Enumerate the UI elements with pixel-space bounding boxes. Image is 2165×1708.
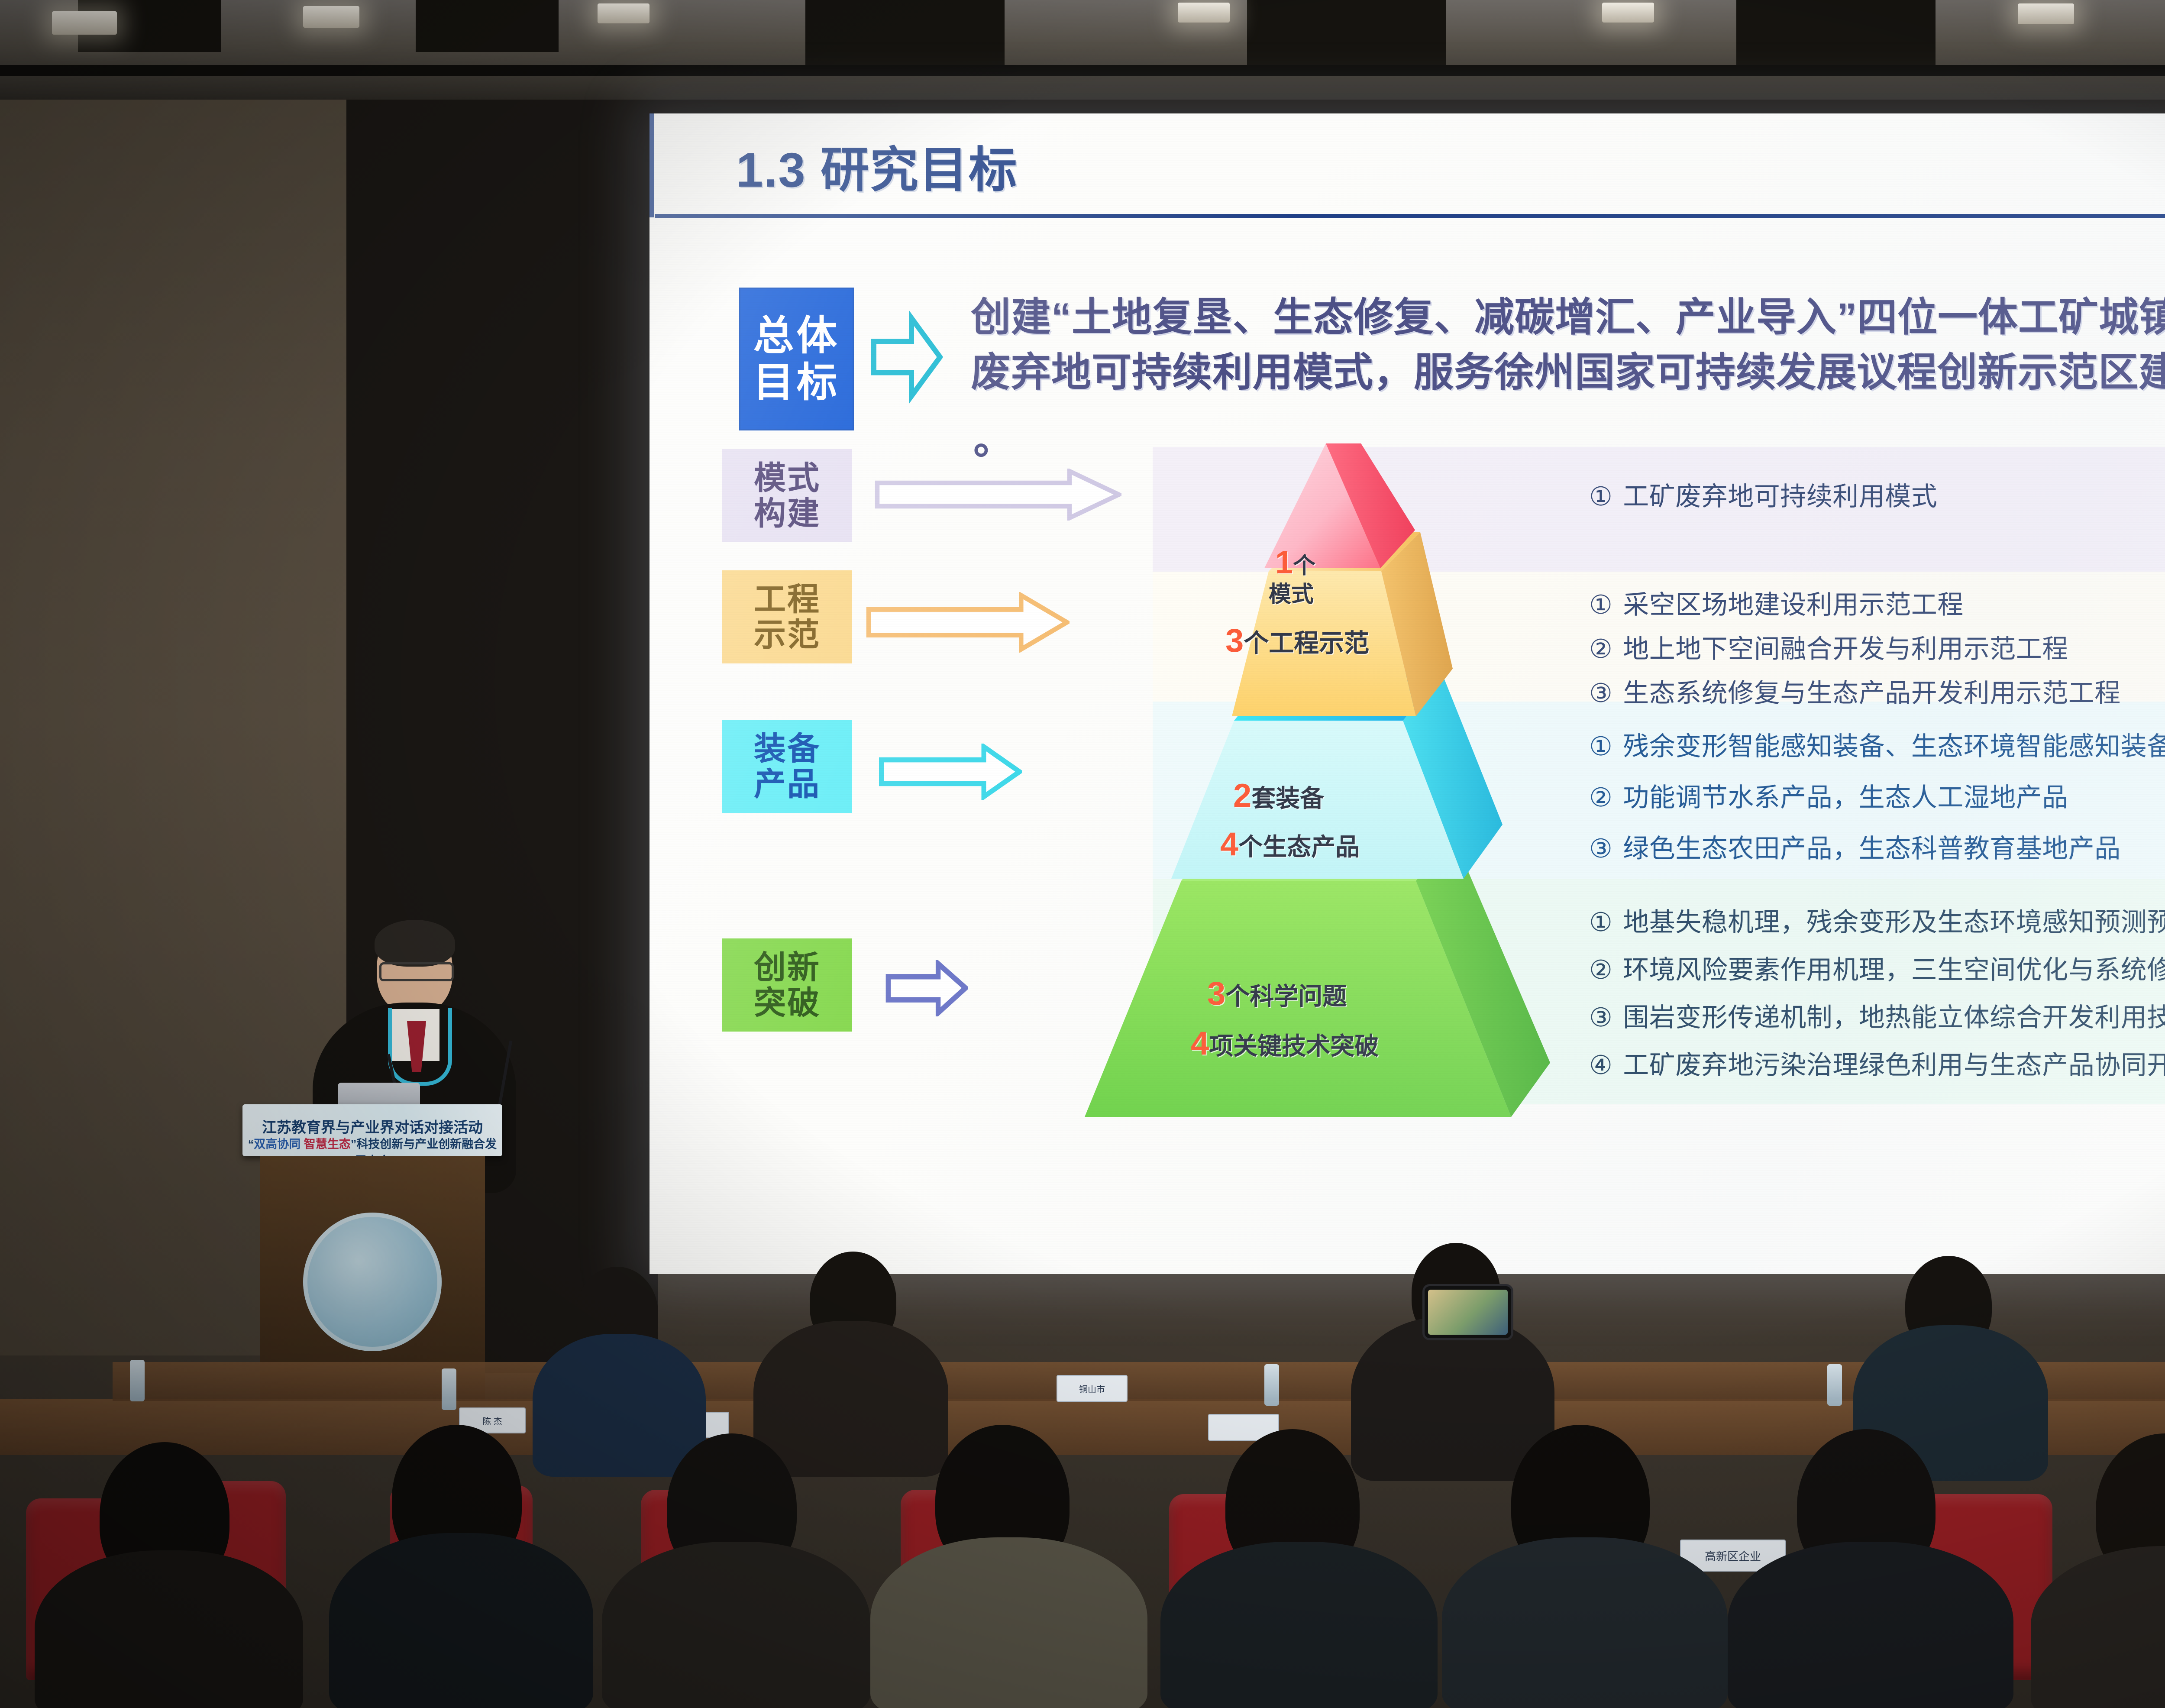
phone-screen xyxy=(1428,1290,1508,1335)
overall-goal-line1: 创建“土地复垦、生态修复、减碳增汇、产业导入”四位一体工矿城镇 xyxy=(971,290,2165,345)
tier-equipment-word2: 个生态产品 xyxy=(1238,833,1360,860)
tier-innovation-word: 个科学问题 xyxy=(1225,983,1347,1010)
phone-recording[interactable] xyxy=(1425,1286,1511,1338)
list-item: ③ 绿色生态农田产品，生态科普教育基地产品 xyxy=(1589,836,2165,862)
category-chip-model-construction[interactable]: 模式 构建 xyxy=(722,449,852,542)
speaker-glasses xyxy=(379,962,454,981)
podium-banner-panel: 江苏教育界与产业界对话对接活动 “双高协同 智慧生态”科技创新与产业创新融合发展… xyxy=(242,1104,502,1156)
speaker-lanyard xyxy=(388,1008,452,1086)
water-bottle xyxy=(1827,1364,1842,1406)
overall-goal-text: 创建“土地复垦、生态修复、减碳增汇、产业导入”四位一体工矿城镇 废弃地可持续利用… xyxy=(971,290,2165,400)
bullet-text: 绿色生态农田产品，生态科普教育基地产品 xyxy=(1623,836,2121,862)
ceiling-spotlight-3 xyxy=(598,3,649,23)
bullet-marker: ③ xyxy=(1589,836,1612,862)
tier-label-equipment-1: 2套装备 xyxy=(1233,780,1324,812)
ceiling-panel-3 xyxy=(805,0,1005,65)
speaker-hair xyxy=(375,920,455,967)
name-card: 铜山市 xyxy=(1057,1375,1128,1402)
title-underline-rule xyxy=(655,214,2165,218)
row-arrow-right-icon-engineering xyxy=(866,592,1070,653)
tier-equipment-word: 套装备 xyxy=(1251,785,1324,812)
banner-quote-close: ” xyxy=(351,1138,357,1151)
banner-tail: 科技创新与产业创新融合发展大会 xyxy=(355,1138,497,1156)
bullet-text: 残余变形智能感知装备、生态环境智能感知装备 xyxy=(1623,734,2165,760)
tier-label-innovation-1: 3个科学问题 xyxy=(1207,977,1347,1010)
bullet-text: 工矿废弃地可持续利用模式 xyxy=(1623,484,1937,510)
ceiling-panel-5 xyxy=(1736,0,1936,65)
tier-innovation-word2: 项关键技术突破 xyxy=(1209,1032,1379,1060)
tier-label-engineering: 3个工程示范 xyxy=(1225,624,1369,657)
bullet-list-engineering: ① 采空区场地建设利用示范工程 ② 地上地下空间融合开发与利用示范工程 ③ 生态… xyxy=(1589,592,2121,725)
bullet-text: 地基失稳机理，残余变形及生态环境感知预测预警技术 xyxy=(1623,909,2165,935)
bullet-marker: ① xyxy=(1589,484,1612,510)
banner-part1: 双高协同 xyxy=(254,1138,301,1151)
bullet-marker: ④ xyxy=(1589,1052,1612,1078)
tier-engineering-word: 个工程示范 xyxy=(1244,629,1369,657)
list-item: ① 地基失稳机理，残余变形及生态环境感知预测预警技术 xyxy=(1589,909,2165,935)
chip-innovation-line1: 创新 xyxy=(754,951,821,983)
projection-screen: 1.3 研究目标 总体 目标 创建“土地复垦、生态修复、减碳增汇、产业导入”四位… xyxy=(649,113,2165,1274)
overall-goal-line2: 废弃地可持续利用模式，服务徐州国家可持续发展议程创新示范区建设 xyxy=(971,345,2165,400)
slide-title: 1.3 研究目标 xyxy=(736,131,1018,201)
audience-body-foreground xyxy=(1728,1542,2013,1708)
ceiling-truss xyxy=(0,65,2165,76)
podium-banner-line2: “双高协同 智慧生态”科技创新与产业创新融合发展大会 xyxy=(242,1135,502,1156)
ceiling-spotlight-1 xyxy=(52,11,117,35)
bullet-text: 围岩变形传递机制，地热能立体综合开发利用技术 xyxy=(1623,1005,2165,1031)
overall-goal-badge-line2: 目标 xyxy=(753,362,840,403)
bullet-marker: ② xyxy=(1589,957,1612,983)
list-item: ② 地上地下空间融合开发与利用示范工程 xyxy=(1589,636,2121,662)
banner-part2: 智慧生态 xyxy=(304,1138,351,1151)
name-card-text: 铜山市 xyxy=(1079,1382,1105,1395)
overall-goal-badge-line1: 总体 xyxy=(753,315,840,356)
list-item: ① 残余变形智能感知装备、生态环境智能感知装备 xyxy=(1589,734,2165,760)
list-item: ① 采空区场地建设利用示范工程 xyxy=(1589,592,2121,618)
bullet-marker: ① xyxy=(1589,909,1612,935)
row-arrow-right-icon-equipment xyxy=(879,744,1022,800)
bullet-marker: ③ xyxy=(1589,680,1612,706)
list-item: ④ 工矿废弃地污染治理绿色利用与生态产品协同开发技术 xyxy=(1589,1052,2165,1078)
audience-body-foreground xyxy=(870,1537,1147,1708)
list-item: ② 功能调节水系产品，生态人工湿地产品 xyxy=(1589,785,2165,811)
bullet-marker: ① xyxy=(1589,734,1612,760)
ceiling-spotlight-2 xyxy=(303,6,359,28)
bullet-marker: ③ xyxy=(1589,1005,1612,1031)
podium-banner-line1: 江苏教育界与产业界对话对接活动 xyxy=(242,1116,502,1137)
conference-hall-photo: 1.3 研究目标 总体 目标 创建“土地复垦、生态修复、减碳增汇、产业导入”四位… xyxy=(0,0,2165,1708)
ceiling-spotlight-4 xyxy=(1178,3,1230,23)
list-item: ③ 围岩变形传递机制，地热能立体综合开发利用技术 xyxy=(1589,1005,2165,1031)
tier-model-word2: 模式 xyxy=(1269,582,1314,607)
chip-engineering-line1: 工程 xyxy=(754,583,821,615)
ceiling-spotlight-5 xyxy=(1602,3,1654,23)
ceiling-panel-4 xyxy=(1247,0,1446,65)
tier-model-number: 1 xyxy=(1275,544,1293,580)
tier-model-unit: 个 xyxy=(1293,553,1315,579)
list-item: ① 工矿废弃地可持续利用模式 xyxy=(1589,484,1937,510)
tier-engineering-number: 3 xyxy=(1225,622,1244,659)
chip-engineering-line2: 示范 xyxy=(754,619,821,651)
university-emblem xyxy=(303,1213,442,1351)
bullet-text: 地上地下空间融合开发与利用示范工程 xyxy=(1623,636,2068,662)
bullet-marker: ① xyxy=(1589,592,1612,618)
chip-innovation-line2: 突破 xyxy=(754,987,821,1019)
category-chip-equipment-product[interactable]: 装备 产品 xyxy=(722,720,852,813)
audience-body-foreground xyxy=(602,1542,870,1708)
audience-body-foreground xyxy=(35,1550,303,1708)
tier-equipment-number2: 4 xyxy=(1220,826,1238,863)
title-left-edge xyxy=(649,113,654,217)
name-card-text: 陈 杰 xyxy=(482,1414,502,1427)
chip-equipment-line2: 产品 xyxy=(754,768,821,800)
water-bottle xyxy=(442,1368,456,1410)
row-arrow-right-icon-innovation xyxy=(885,960,968,1016)
list-item: ③ 生态系统修复与生态产品开发利用示范工程 xyxy=(1589,680,2121,706)
banner-quote-open: “ xyxy=(248,1138,254,1151)
right-arrow-outline-icon xyxy=(871,311,943,404)
ceiling-spotlight-6 xyxy=(2018,3,2074,24)
water-bottle xyxy=(1264,1364,1279,1406)
tier-equipment-number: 2 xyxy=(1233,777,1251,814)
bullet-text: 环境风险要素作用机理，三生空间优化与系统修复技术 xyxy=(1623,957,2165,983)
tier-label-model-word: 模式 xyxy=(1269,583,1314,606)
pyramid-diagram xyxy=(1061,443,1593,1117)
audience-body xyxy=(753,1321,948,1477)
audience-body xyxy=(533,1334,706,1477)
chip-equipment-line1: 装备 xyxy=(754,733,821,765)
name-card-text: 高新区企业 xyxy=(1705,1548,1761,1564)
overall-goal-period: 。 xyxy=(973,408,1013,466)
audience-body-foreground xyxy=(1160,1542,1438,1708)
tier-label-innovation-2: 4项关键技术突破 xyxy=(1191,1027,1379,1060)
list-item: ② 环境风险要素作用机理，三生空间优化与系统修复技术 xyxy=(1589,957,2165,983)
ceiling-panel-2 xyxy=(416,0,559,52)
category-chip-innovation-breakthrough[interactable]: 创新 突破 xyxy=(722,938,852,1032)
tier-innovation-number2: 4 xyxy=(1191,1025,1209,1062)
bullet-list-innovation: ① 地基失稳机理，残余变形及生态环境感知预测预警技术 ② 环境风险要素作用机理，… xyxy=(1589,909,2165,1100)
chip-model-line1: 模式 xyxy=(754,462,821,494)
tier-label-model: 1个 xyxy=(1275,547,1315,579)
audience-body-foreground xyxy=(1442,1537,1728,1708)
water-bottle xyxy=(130,1360,145,1401)
tier-innovation-number: 3 xyxy=(1207,975,1225,1012)
chip-model-line2: 构建 xyxy=(754,498,821,530)
tier-label-equipment-2: 4个生态产品 xyxy=(1220,828,1360,861)
audience-body-foreground xyxy=(329,1533,593,1708)
bullet-marker: ② xyxy=(1589,785,1612,811)
overall-goal-badge: 总体 目标 xyxy=(739,288,854,430)
bullet-list-model: ① 工矿废弃地可持续利用模式 xyxy=(1589,484,1937,510)
category-chip-engineering-demo[interactable]: 工程 示范 xyxy=(722,570,852,663)
bullet-list-equipment: ① 残余变形智能感知装备、生态环境智能感知装备 ② 功能调节水系产品，生态人工湿… xyxy=(1589,734,2165,887)
bullet-marker: ② xyxy=(1589,636,1612,662)
bullet-text: 生态系统修复与生态产品开发利用示范工程 xyxy=(1623,680,2121,706)
bullet-text: 功能调节水系产品，生态人工湿地产品 xyxy=(1623,785,2068,811)
bullet-text: 工矿废弃地污染治理绿色利用与生态产品协同开发技术 xyxy=(1623,1052,2165,1078)
bullet-text: 采空区场地建设利用示范工程 xyxy=(1623,592,1964,618)
